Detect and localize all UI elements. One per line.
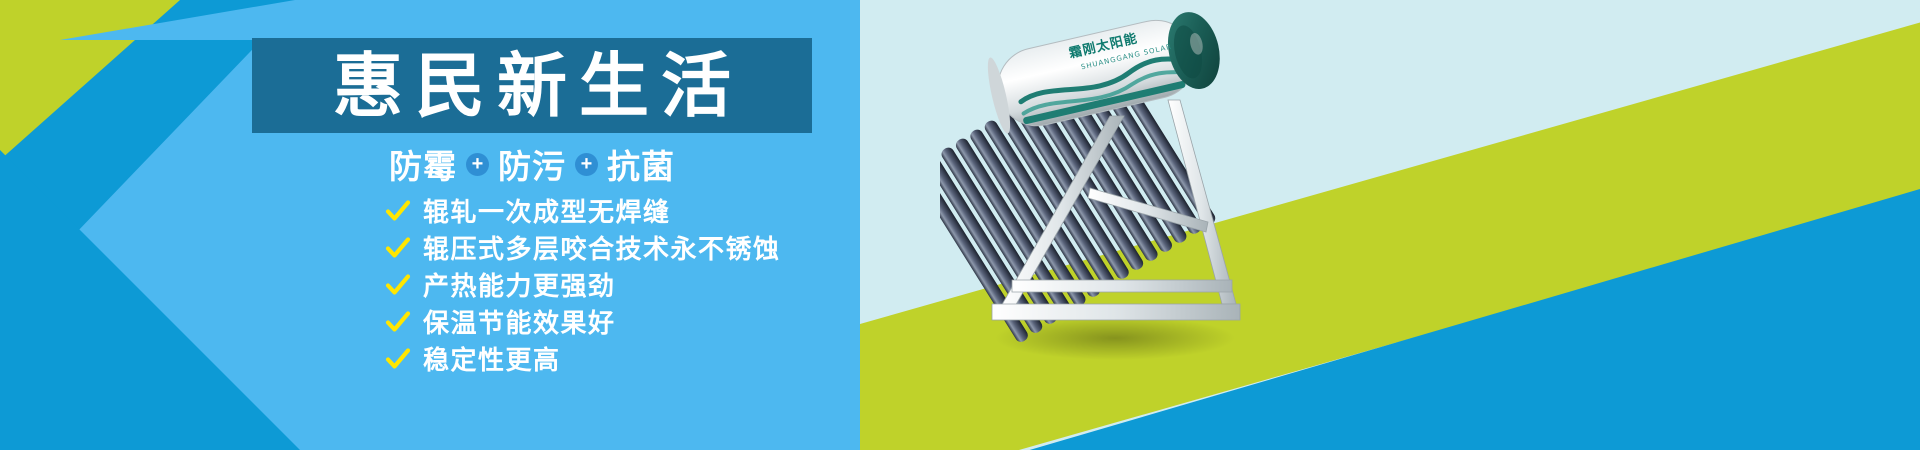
list-item-label: 稳定性更高: [423, 340, 561, 377]
list-item-label: 产热能力更强劲: [423, 266, 616, 303]
promo-banner: 惠民新生活 防霉 + 防污 + 抗菌 辊轧一次成型无焊缝 辊压式多层咬合技术永不…: [0, 0, 1920, 450]
subtitle-word-3: 抗菌: [607, 140, 675, 188]
page-title: 惠民新生活: [321, 51, 743, 121]
feature-list: 辊轧一次成型无焊缝 辊压式多层咬合技术永不锈蚀 产热能力更强劲 保温节能效果好: [385, 192, 781, 377]
list-item: 辊轧一次成型无焊缝: [385, 192, 781, 229]
check-icon: [385, 272, 411, 298]
plus-icon-1: +: [466, 153, 489, 176]
list-item-label: 辊压式多层咬合技术永不锈蚀: [423, 229, 781, 266]
list-item: 保温节能效果好: [385, 303, 781, 340]
check-icon: [385, 309, 411, 335]
check-icon: [385, 346, 411, 372]
plus-icon-2: +: [575, 153, 598, 176]
list-item: 稳定性更高: [385, 340, 781, 377]
subtitle-row: 防霉 + 防污 + 抗菌: [252, 140, 812, 188]
list-item: 产热能力更强劲: [385, 266, 781, 303]
subtitle-word-1: 防霉: [389, 140, 457, 188]
headline-box: 惠民新生活: [252, 38, 812, 133]
list-item: 辊压式多层咬合技术永不锈蚀: [385, 229, 781, 266]
check-icon: [385, 235, 411, 261]
solar-water-heater-image: 霜刚太阳能 SHUANGGANG SOLAR: [940, 8, 1270, 368]
list-item-label: 保温节能效果好: [423, 303, 616, 340]
list-item-label: 辊轧一次成型无焊缝: [423, 192, 671, 229]
check-icon: [385, 198, 411, 224]
subtitle-word-2: 防污: [498, 140, 566, 188]
